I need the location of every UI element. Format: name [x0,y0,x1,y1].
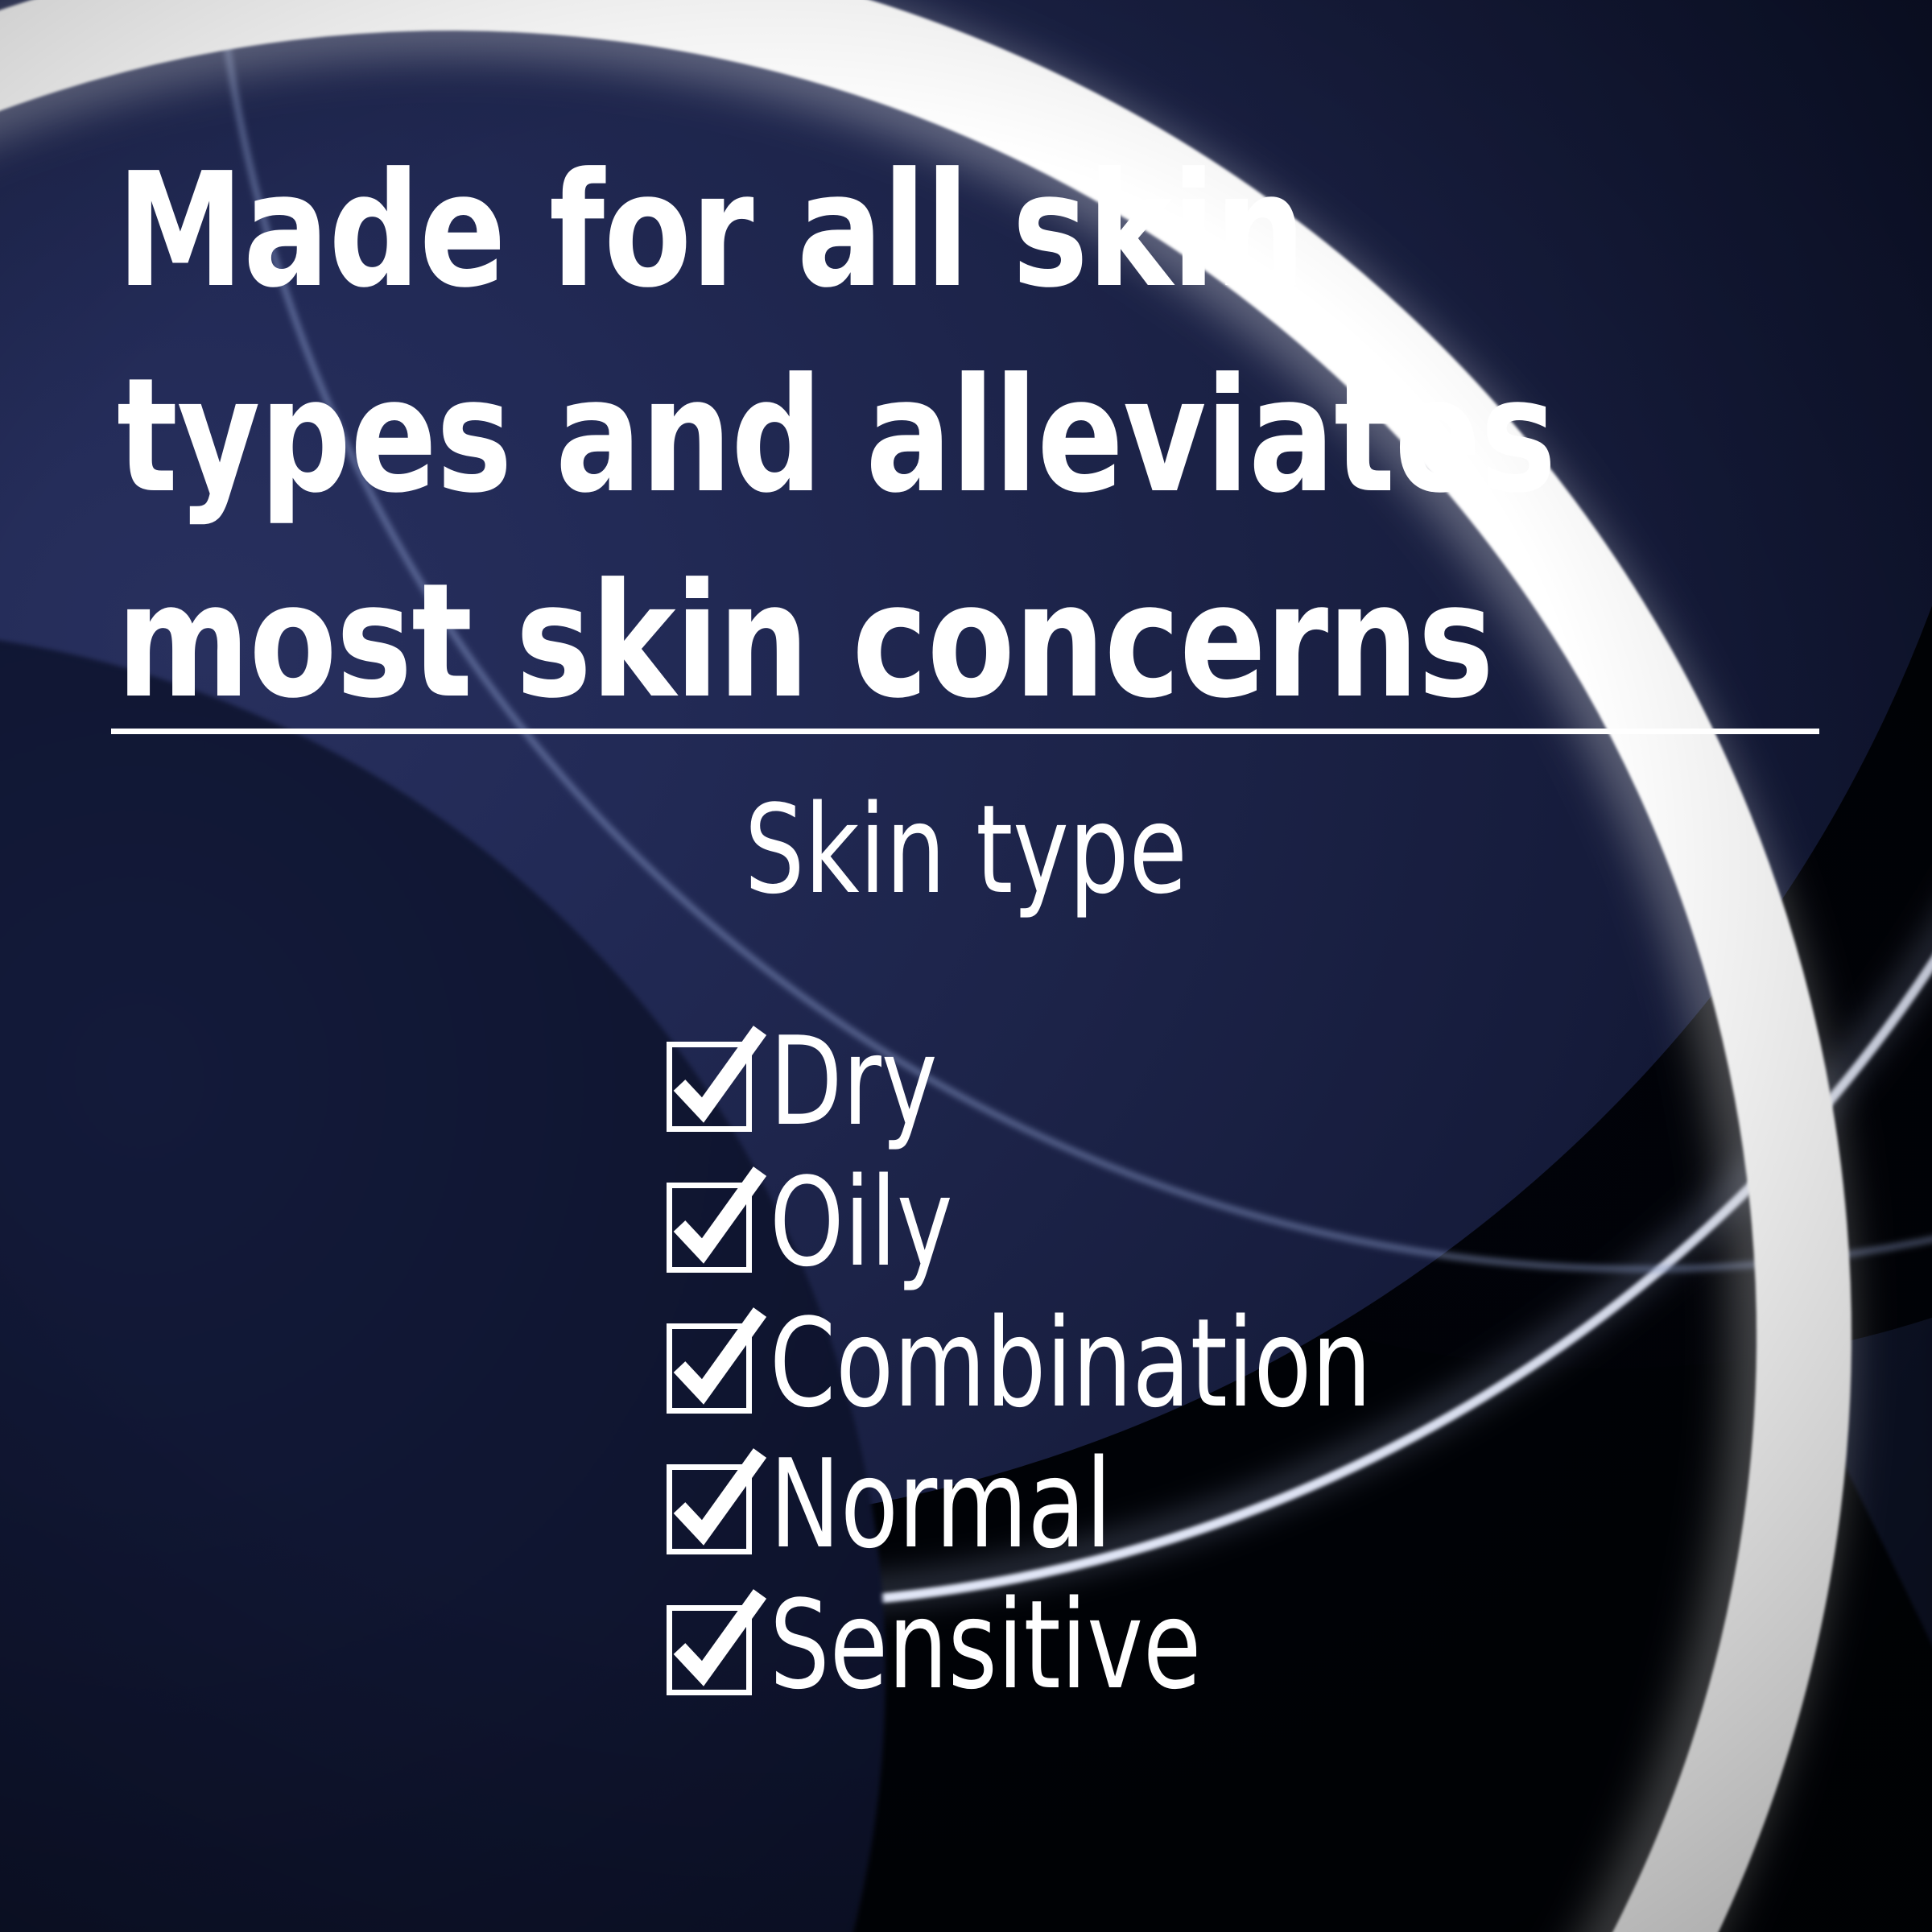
poster-canvas: Made for all skin types and alleviates m… [0,0,1932,1932]
checkbox-checked-icon [667,1323,752,1414]
checkbox-checked-icon [667,1042,752,1132]
checkbox-checked-icon [667,1464,752,1554]
list-item-label: Sensitive [770,1584,1201,1707]
headline: Made for all skin types and alleviates m… [117,129,1551,744]
list-item: Oily [667,1170,1810,1311]
list-item-label: Normal [770,1443,1112,1566]
list-item: Combination [667,1311,1810,1451]
checkbox-checked-icon [667,1605,752,1695]
headline-line-1: Made for all skin [117,129,1551,334]
list-item-label: Combination [770,1302,1372,1425]
list-item: Sensitive [667,1592,1810,1733]
subhead-label: Skin type [745,789,1187,911]
poster-content: Made for all skin types and alleviates m… [0,0,1932,1932]
headline-line-3: most skin concerns [117,539,1551,745]
subhead-skin-type: Skin type [0,789,1932,911]
horizontal-divider [111,729,1819,734]
skin-type-checklist: Dry Oily Combination [667,1029,1810,1733]
checkbox-checked-icon [667,1183,752,1273]
headline-line-2: types and alleviates [117,334,1551,539]
list-item-label: Dry [770,1021,937,1143]
list-item: Dry [667,1029,1810,1170]
list-item: Normal [667,1451,1810,1592]
list-item-label: Oily [770,1162,952,1284]
